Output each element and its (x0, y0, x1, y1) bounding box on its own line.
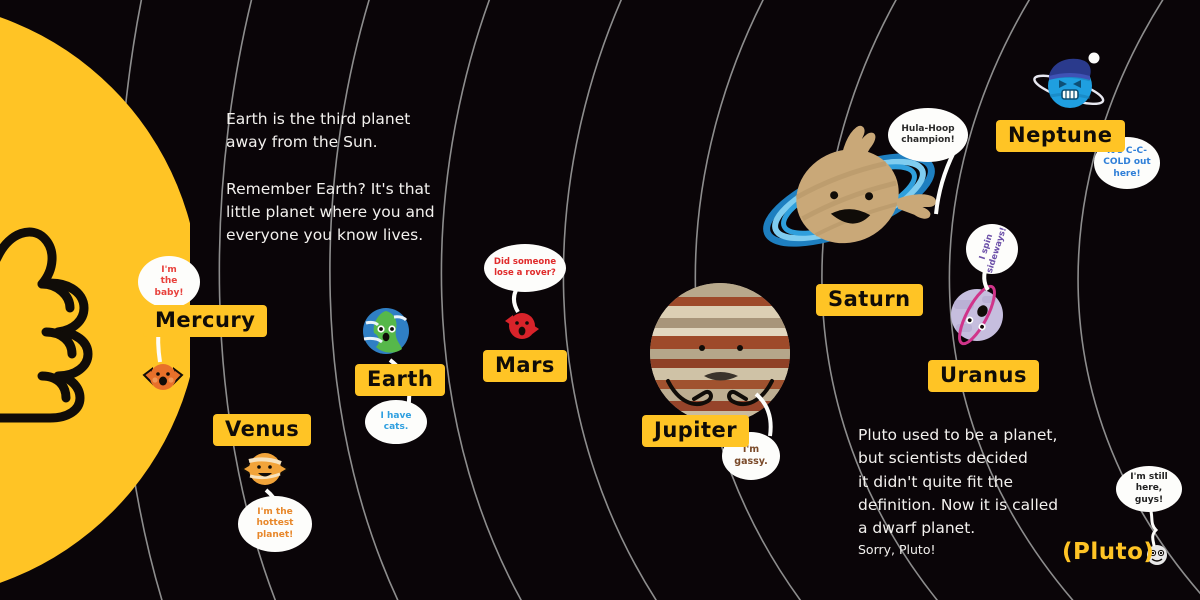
planet-neptune (1032, 46, 1108, 122)
pluto-sorry-text: Sorry, Pluto! (858, 541, 1058, 560)
speech-bubble-venus: I'm the hottest planet! (238, 496, 312, 552)
speech-bubble-uranus: I spin sideways! (966, 224, 1018, 274)
planet-earth (360, 305, 412, 357)
speech-bubble-mars: Did someone lose a rover? (484, 244, 566, 292)
label-neptune[interactable]: Neptune (996, 120, 1125, 152)
label-mars[interactable]: Mars (483, 350, 567, 382)
earth-description-text: Earth is the third planet away from the … (226, 108, 456, 248)
speech-bubble-earth: I have cats. (365, 400, 427, 444)
speech-bubble-mercury: I'm the baby! (138, 256, 200, 308)
speech-bubble-pluto: I'm still here, guys! (1116, 466, 1182, 512)
solar-system-illustration: I'm the baby! Mercury I'm the hottest pl… (0, 0, 1200, 600)
label-uranus[interactable]: Uranus (928, 360, 1039, 392)
label-saturn[interactable]: Saturn (816, 284, 923, 316)
label-mercury[interactable]: Mercury (143, 305, 267, 337)
speech-bubble-saturn: Hula-Hoop champion! (888, 108, 968, 162)
jupiter-bubble-tail (752, 392, 786, 438)
label-earth[interactable]: Earth (355, 364, 445, 396)
pluto-description-text: Pluto used to be a planet, but scientist… (858, 424, 1073, 540)
label-venus[interactable]: Venus (213, 414, 311, 446)
label-pluto[interactable]: (Pluto) (1062, 540, 1154, 565)
label-jupiter[interactable]: Jupiter (642, 415, 749, 447)
